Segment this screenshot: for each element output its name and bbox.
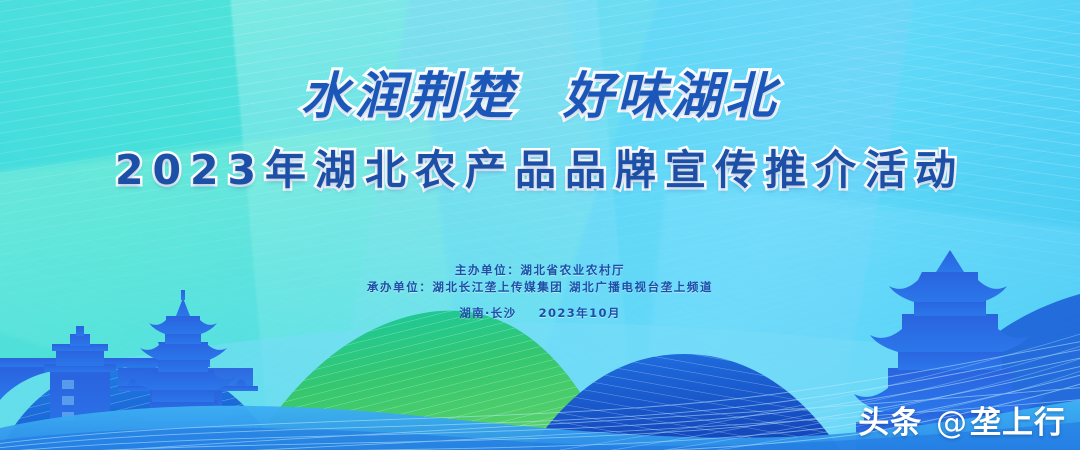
watermark-brand: 头条 xyxy=(858,405,922,441)
watermark-toutiao: 头条 @垄上行 xyxy=(858,397,1066,442)
organizer-organization-line: 承办单位：湖北长江垄上传媒集团 湖北广播电视台垄上频道 xyxy=(0,279,1080,296)
event-place: 湖南·长沙 xyxy=(459,306,516,320)
place-and-date-line: 湖南·长沙2023年10月 xyxy=(0,305,1080,322)
event-date: 2023年10月 xyxy=(539,306,621,320)
watermark-account: 垄上行 xyxy=(970,405,1066,441)
host-organization-line: 主办单位：湖北省农业农村厅 xyxy=(0,262,1080,279)
calligraphy-title-left: 水润荆楚 xyxy=(301,66,517,125)
credits-block: 主办单位：湖北省农业农村厅 承办单位：湖北长江垄上传媒集团 湖北广播电视台垄上频… xyxy=(0,262,1080,322)
headline-title: 2023年湖北农产品品牌宣传推介活动 xyxy=(0,136,1080,196)
poster-banner: 水润荆楚好味湖北 2023年湖北农产品品牌宣传推介活动 主办单位：湖北省农业农村… xyxy=(0,0,1080,450)
watermark-at-symbol: @ xyxy=(936,405,968,441)
calligraphy-title: 水润荆楚好味湖北 xyxy=(0,56,1080,128)
calligraphy-title-right: 好味湖北 xyxy=(563,66,779,125)
